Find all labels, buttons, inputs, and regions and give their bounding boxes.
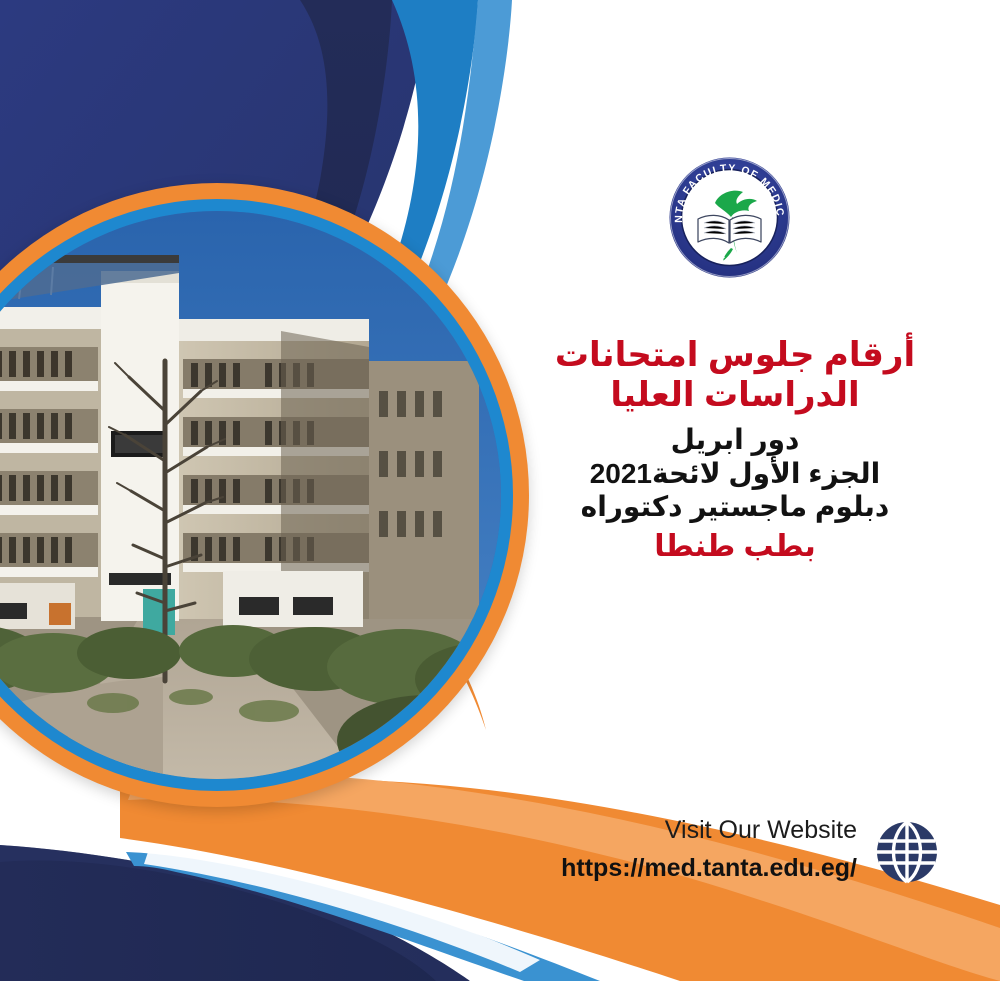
headline-line-4: الجزء الأول لائحة2021 <box>520 458 950 489</box>
headline-line-5: دبلوم ماجستير دكتوراه <box>520 491 950 522</box>
website-url-link[interactable]: https://med.tanta.edu.eg/ <box>561 854 857 883</box>
tanta-faculty-of-medicine-logo: TANTA FACULTY OF MEDICINE <box>667 155 792 280</box>
building-left-wing <box>0 307 103 617</box>
visit-our-website-label: Visit Our Website <box>665 816 857 845</box>
website-block[interactable]: Visit Our Website https://med.tanta.edu.… <box>505 808 945 898</box>
poster-canvas: TANTA FACULTY OF MEDICINE <box>0 0 1000 981</box>
bottom-white-sliver <box>144 846 540 972</box>
bottom-left-navy-shape <box>0 845 470 981</box>
headline-line-6: بطب طنطا <box>520 530 950 564</box>
headline-line-1: أرقام جلوس امتحانات <box>520 336 950 374</box>
headline-line-3: دور ابريل <box>520 424 950 455</box>
announcement-headline: أرقام جلوس امتحانات الدراسات العليا دور … <box>520 336 950 564</box>
headline-line-2: الدراسات العليا <box>520 376 950 414</box>
globe-icon <box>875 820 939 884</box>
